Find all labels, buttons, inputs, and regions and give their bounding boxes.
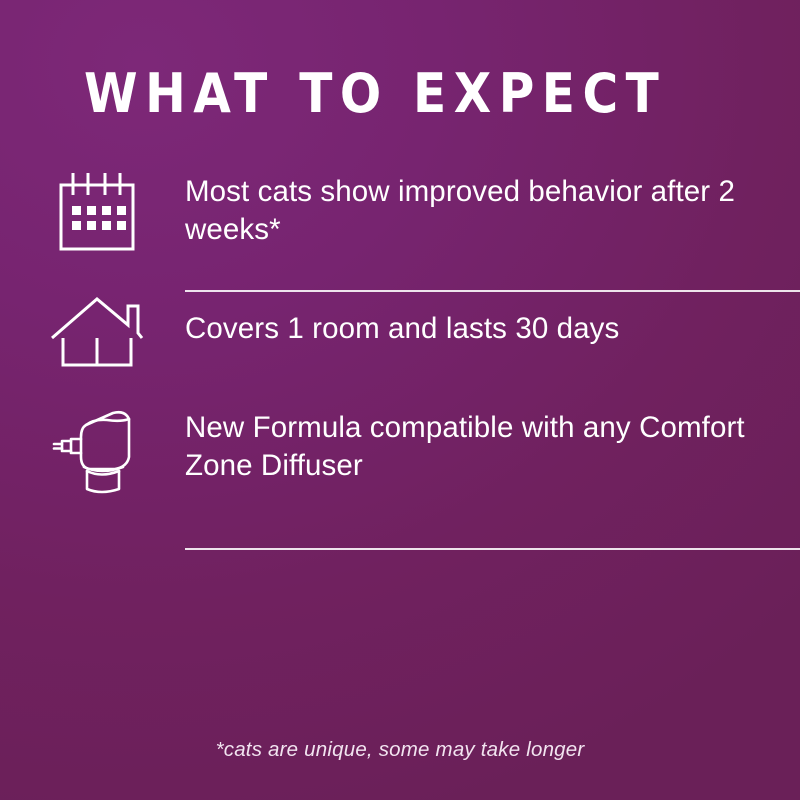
feature-text: New Formula compatible with any Comfort … (185, 409, 800, 485)
calendar-icon (0, 171, 185, 251)
footnote-text: *cats are unique, some may take longer (0, 738, 800, 762)
feature-text: Covers 1 room and lasts 30 days (185, 310, 639, 348)
diffuser-icon (0, 399, 185, 495)
house-icon (0, 291, 185, 367)
list-item: Most cats show improved behavior after 2… (0, 152, 800, 270)
feature-list: Most cats show improved behavior after 2… (0, 152, 800, 506)
list-item: New Formula compatible with any Comfort … (0, 388, 800, 506)
promo-poster: WHAT TO EXPECT (0, 0, 800, 800)
divider (185, 548, 800, 550)
list-item: Covers 1 room and lasts 30 days (0, 270, 800, 388)
page-title: WHAT TO EXPECT (84, 63, 666, 125)
feature-text: Most cats show improved behavior after 2… (185, 173, 800, 249)
